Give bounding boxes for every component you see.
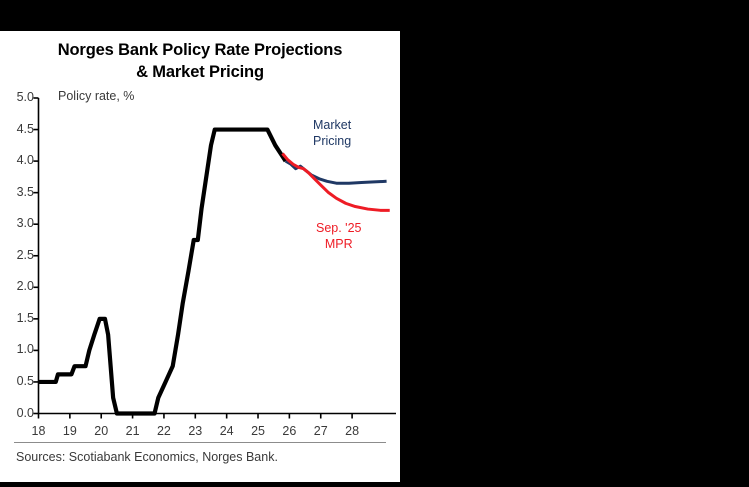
annotation-market-pricing-line-1: Market: [313, 118, 351, 132]
chart-figure: Norges Bank Policy Rate Projections & Ma…: [0, 31, 400, 482]
x-axis-tick-label: 26: [274, 424, 304, 438]
series-line: [39, 130, 286, 414]
annotation-sep-25-mpr: Sep. '25 MPR: [316, 221, 361, 252]
x-axis-tick-label: 25: [243, 424, 273, 438]
y-axis-tick-label: 5.0: [0, 90, 34, 104]
source-note: Sources: Scotiabank Economics, Norges Ba…: [16, 450, 278, 464]
x-axis-tick-label: 28: [337, 424, 367, 438]
annotation-sep-25-mpr-line-2: MPR: [325, 237, 353, 251]
y-axis-tick-label: 1.5: [0, 311, 34, 325]
y-axis-tick-label: 1.0: [0, 342, 34, 356]
x-axis-tick-label: 22: [149, 424, 179, 438]
annotation-sep-25-mpr-line-1: Sep. '25: [316, 221, 361, 235]
y-axis-tick-label: 2.0: [0, 279, 34, 293]
annotation-market-pricing-line-2: Pricing: [313, 134, 351, 148]
y-axis-tick-label: 0.5: [0, 374, 34, 388]
y-axis-tick-label: 4.0: [0, 153, 34, 167]
plot-area: 5.04.54.03.53.02.52.01.51.00.50.0 181920…: [0, 31, 400, 482]
x-axis-tick-label: 24: [212, 424, 242, 438]
x-axis-tick-label: 18: [24, 424, 54, 438]
x-axis-tick-label: 20: [86, 424, 116, 438]
y-axis-tick-label: 4.5: [0, 122, 34, 136]
x-axis-tick-label: 27: [306, 424, 336, 438]
y-axis-tick-label: 3.5: [0, 185, 34, 199]
x-axis-tick-label: 21: [118, 424, 148, 438]
plot-svg: [0, 31, 400, 482]
data-series-group: [39, 130, 390, 414]
x-axis-tick-label: 23: [180, 424, 210, 438]
annotation-market-pricing: Market Pricing: [313, 118, 351, 149]
x-axis-tick-label: 19: [55, 424, 85, 438]
y-axis-tick-label: 3.0: [0, 216, 34, 230]
series-line: [286, 161, 387, 183]
y-axis-tick-label: 2.5: [0, 248, 34, 262]
source-divider: [14, 442, 386, 443]
y-axis-tick-label: 0.0: [0, 406, 34, 420]
